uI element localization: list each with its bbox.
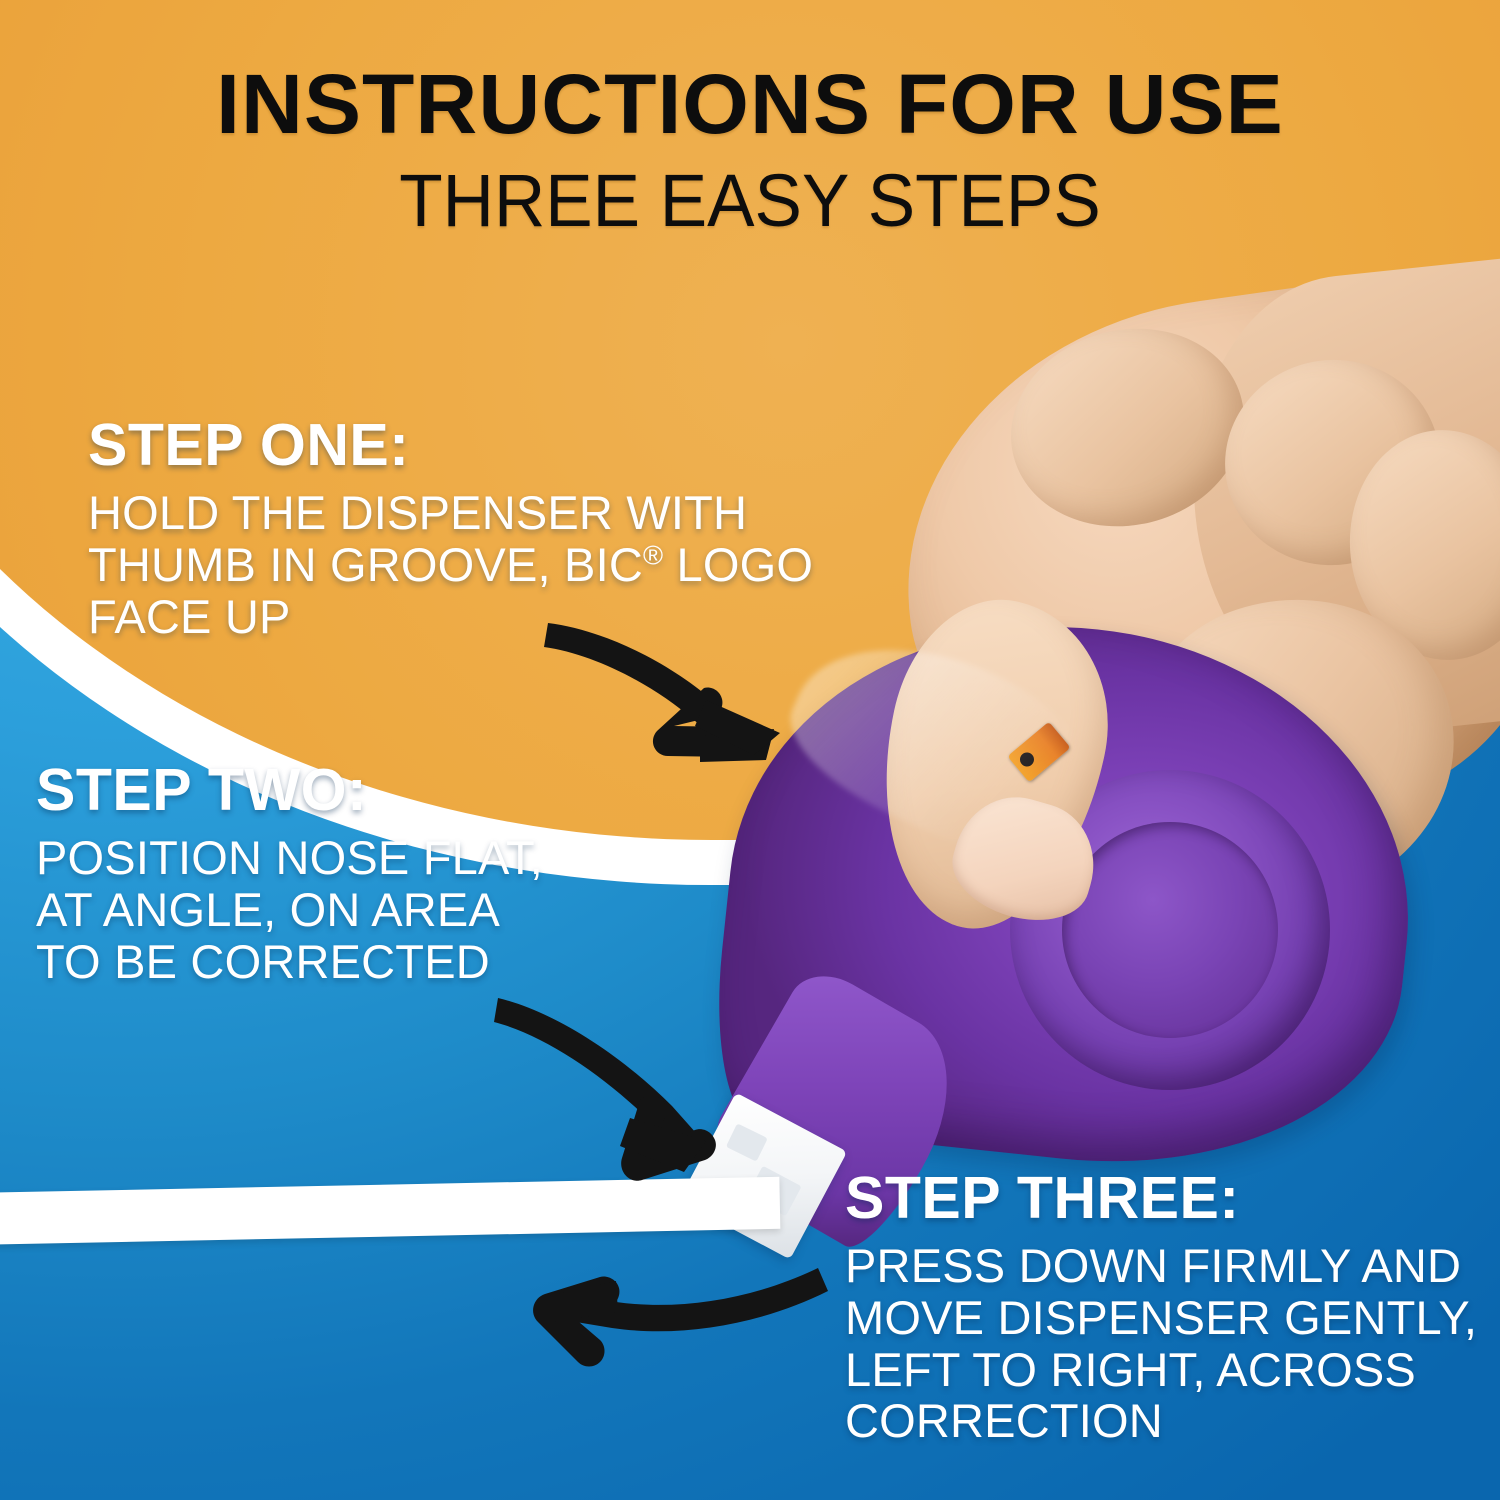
step-three-line-3: LEFT TO RIGHT, ACROSS [845,1343,1416,1396]
step-three-body: PRESS DOWN FIRMLY AND MOVE DISPENSER GEN… [845,1240,1485,1447]
step-two-line-3: TO BE CORRECTED [36,935,490,988]
step-three-line-4: CORRECTION [845,1394,1163,1447]
tip-slot-1 [726,1123,768,1161]
step-one-line-2-tail: LOGO [663,538,813,591]
step-one-line-2: THUMB IN GROOVE, BIC [88,538,643,591]
step-three-line-1: PRESS DOWN FIRMLY AND [845,1239,1461,1292]
registered-trademark-icon: ® [643,539,663,570]
step-two-line-2: AT ANGLE, ON AREA [36,883,500,936]
step-two-block: STEP TWO: POSITION NOSE FLAT, AT ANGLE, … [36,760,676,987]
step-three-block: STEP THREE: PRESS DOWN FIRMLY AND MOVE D… [845,1168,1485,1447]
step-two-heading: STEP TWO: [36,760,676,820]
step-two-body: POSITION NOSE FLAT, AT ANGLE, ON AREA TO… [36,832,676,987]
step-three-line-2: MOVE DISPENSER GENTLY, [845,1291,1477,1344]
step-one-heading: STEP ONE: [88,415,908,475]
instruction-poster: INSTRUCTIONS FOR USE THREE EASY STEPS ST… [0,0,1500,1500]
step-three-heading: STEP THREE: [845,1168,1485,1228]
step-one-line-3: FACE UP [88,590,291,643]
step-one-block: STEP ONE: HOLD THE DISPENSER WITH THUMB … [88,415,908,642]
step-one-body: HOLD THE DISPENSER WITH THUMB IN GROOVE,… [88,487,908,642]
step-one-line-1: HOLD THE DISPENSER WITH [88,486,747,539]
step-two-line-1: POSITION NOSE FLAT, [36,831,543,884]
